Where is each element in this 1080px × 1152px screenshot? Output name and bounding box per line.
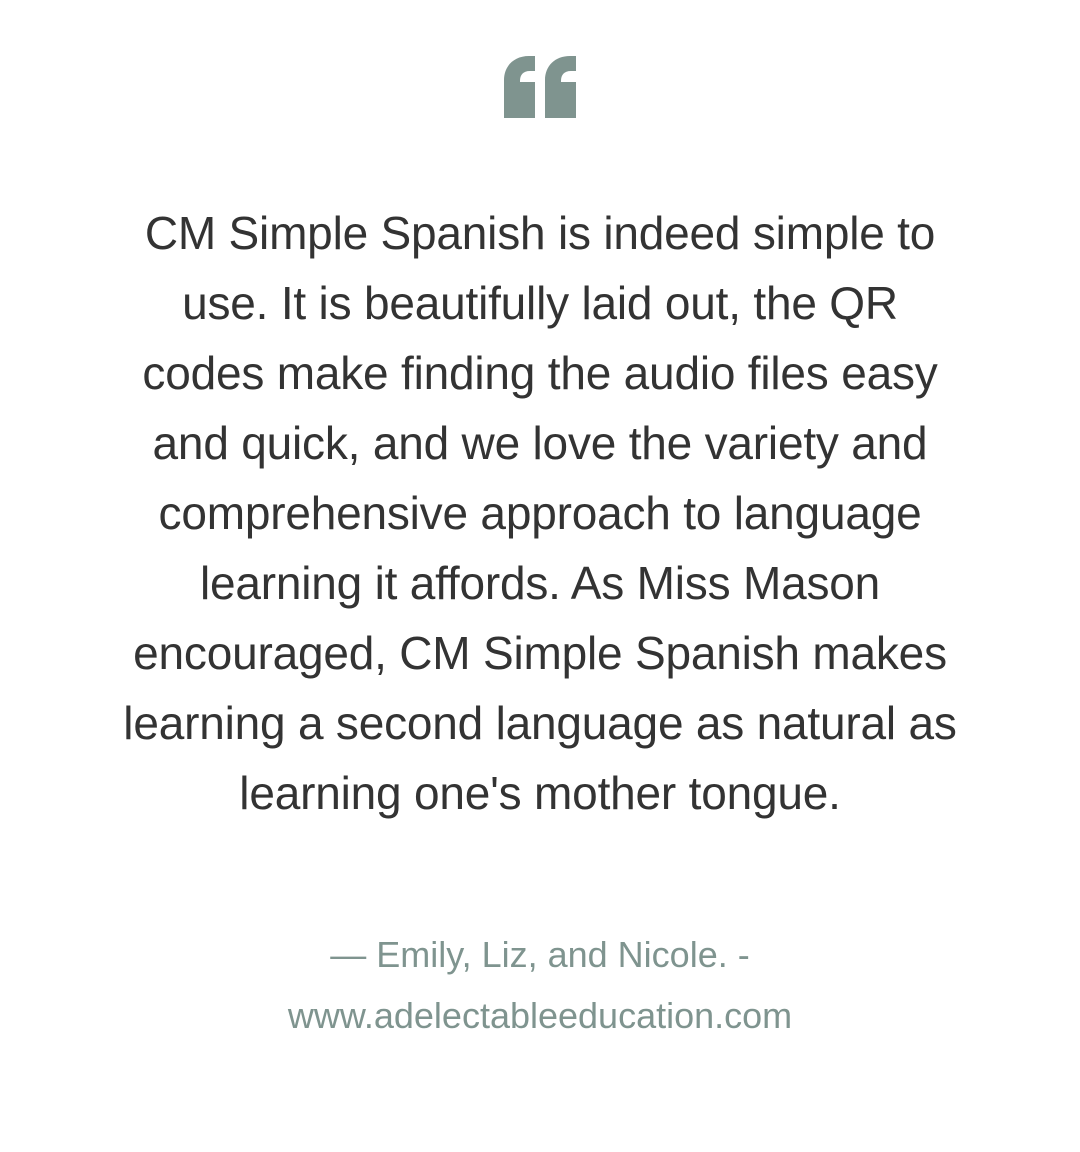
double-quote-open-icon: [504, 56, 576, 152]
attribution-source-url: www.adelectableeducation.com: [150, 985, 930, 1046]
attribution: — Emily, Liz, and Nicole. - www.adelecta…: [150, 924, 930, 1046]
attribution-names: — Emily, Liz, and Nicole. -: [150, 924, 930, 985]
testimonial-text: CM Simple Spanish is indeed simple to us…: [100, 198, 980, 828]
testimonial-quote-card: CM Simple Spanish is indeed simple to us…: [0, 0, 1080, 1152]
